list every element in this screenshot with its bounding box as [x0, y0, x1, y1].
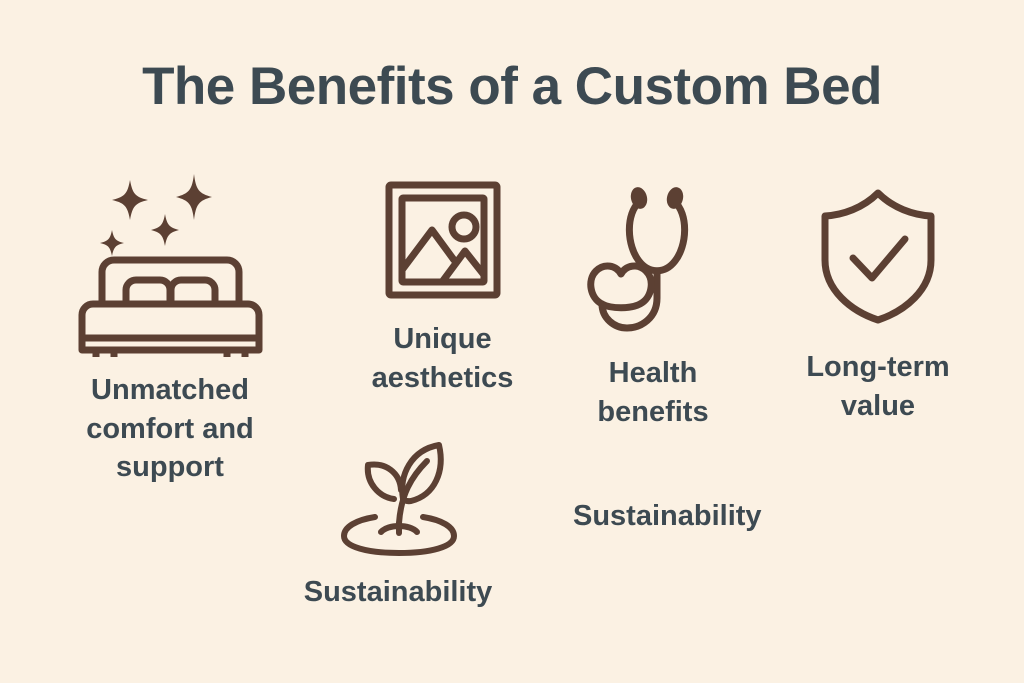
- seedling-sprout-icon: [331, 437, 466, 557]
- benefit-item-sustainability-alt: Sustainability: [573, 497, 793, 536]
- bed-with-sparkles-icon: [68, 172, 273, 357]
- benefit-label-sustainability: Sustainability: [304, 573, 493, 612]
- stethoscope-heart-icon: [583, 186, 723, 334]
- benefit-item-aesthetics: Unique aesthetics: [350, 178, 535, 397]
- framed-picture-icon: [369, 178, 517, 302]
- benefit-item-health: Health benefits: [568, 186, 738, 431]
- benefit-label-aesthetics: Unique aesthetics: [372, 320, 514, 397]
- benefit-label-value: Long-term value: [806, 348, 949, 425]
- benefit-item-sustainability: Sustainability: [318, 437, 478, 612]
- benefit-item-comfort: Unmatched comfort and support: [45, 172, 295, 487]
- benefit-item-value: Long-term value: [788, 186, 968, 425]
- shield-check-icon: [813, 186, 943, 326]
- benefit-label-sustainability-alt: Sustainability: [573, 497, 762, 536]
- benefit-label-comfort: Unmatched comfort and support: [86, 371, 254, 487]
- infographic-canvas: The Benefits of a Custom Bed: [0, 0, 1024, 683]
- page-title: The Benefits of a Custom Bed: [0, 58, 1024, 116]
- benefit-label-health: Health benefits: [597, 354, 708, 431]
